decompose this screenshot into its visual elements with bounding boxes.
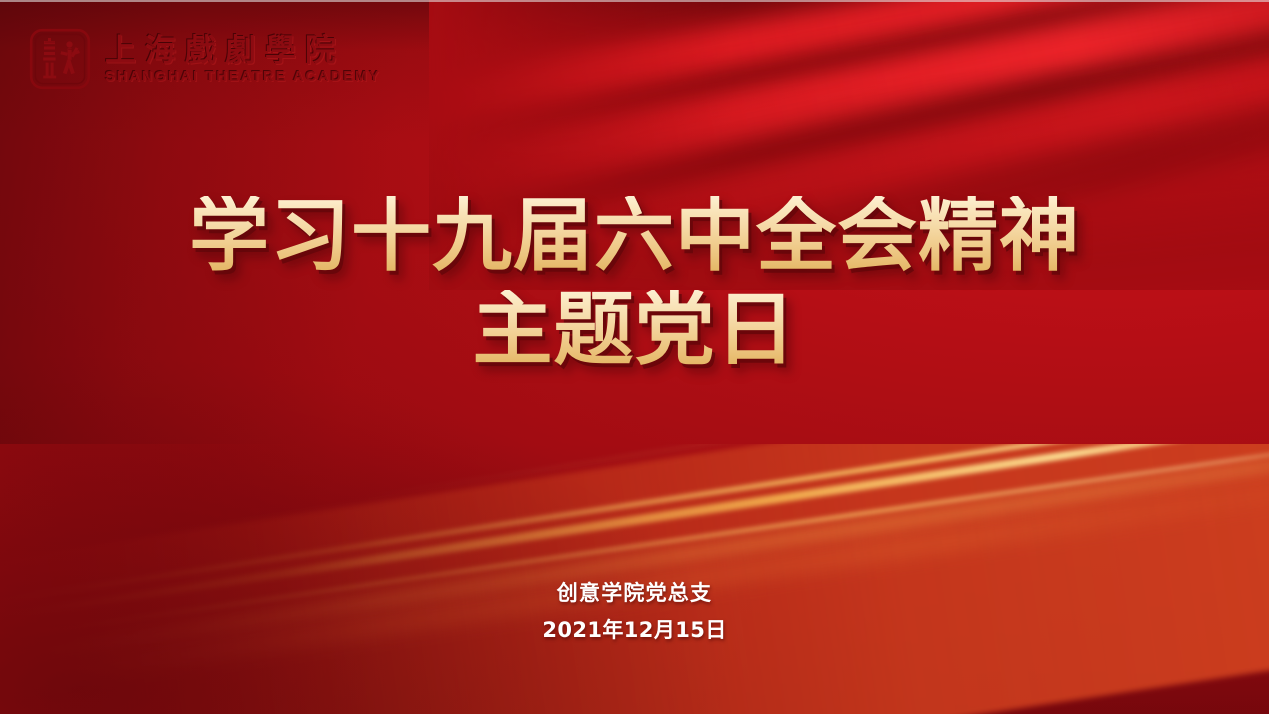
organization-name: 创意学院党总支 xyxy=(0,583,1269,604)
streak-fade-overlay xyxy=(0,444,1269,714)
subtitle-block: 创意学院党总支 2021年12月15日 xyxy=(0,583,1269,641)
logo-text-block: 上海戲劇學院 SHANGHAI THEATRE ACADEMY xyxy=(105,33,381,85)
logo-english-name: SHANGHAI THEATRE ACADEMY xyxy=(105,69,381,85)
slide-top-edge xyxy=(0,0,1269,2)
institution-logo: 上海戲劇學院 SHANGHAI THEATRE ACADEMY xyxy=(28,27,381,91)
logo-chinese-name: 上海戲劇學院 xyxy=(105,35,381,68)
seal-square-icon xyxy=(28,27,92,91)
presentation-slide: 上海戲劇學院 SHANGHAI THEATRE ACADEMY 学习十九届六中全… xyxy=(0,0,1269,714)
title-line-1: 学习十九届六中全会精神 xyxy=(0,196,1269,276)
golden-light-streaks-decoration xyxy=(0,444,1269,714)
title-line-2: 主题党日 xyxy=(0,290,1269,370)
presentation-date: 2021年12月15日 xyxy=(0,620,1269,641)
title-block: 学习十九届六中全会精神 主题党日 xyxy=(0,196,1269,370)
